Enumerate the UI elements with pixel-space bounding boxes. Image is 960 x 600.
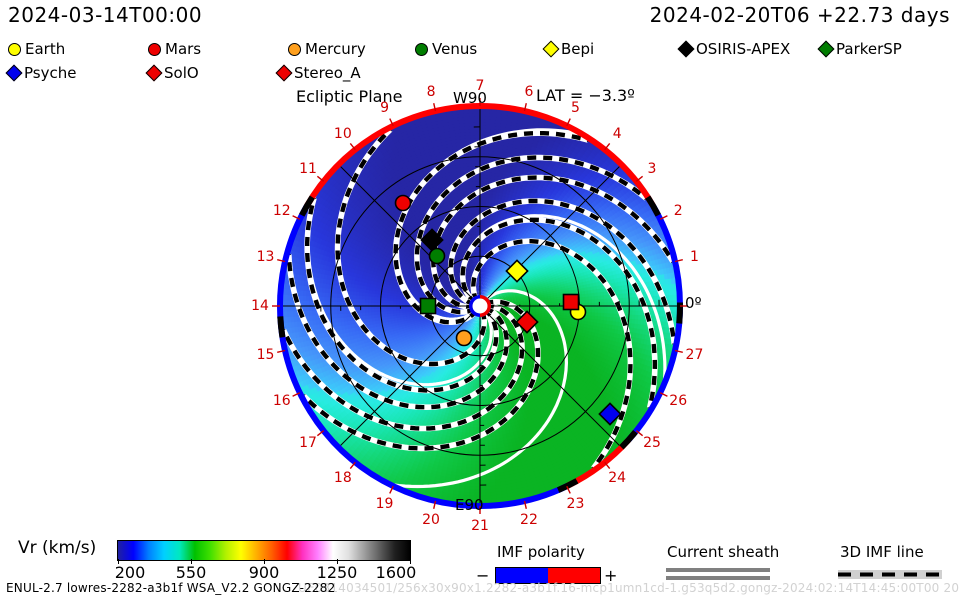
legend-marker-stereo_a: [276, 65, 293, 82]
legend-item-osiris-apex: OSIRIS-APEX: [680, 38, 790, 60]
legend-label-psyche: Psyche: [24, 66, 76, 81]
legend-marker-mars: [148, 43, 161, 56]
legend-marker-solo: [146, 65, 163, 82]
legend-item-psyche: Psyche: [8, 62, 76, 84]
legend-marker-psyche: [6, 65, 23, 82]
right-timestamp: 2024-02-20T06 +22.73 days: [650, 3, 950, 27]
legend-label-stereo_a: Stereo_A: [294, 66, 361, 81]
legend-item-stereo-a: Stereo_A: [278, 62, 361, 84]
polar-disc-wrapper: [280, 106, 680, 506]
legend-item-earth: Earth: [8, 38, 65, 60]
legend-item-solo: SolO: [148, 62, 199, 84]
legend-item-parkersp: ParkerSP: [820, 38, 902, 60]
legend-marker-bepi: [543, 41, 560, 58]
legend-label-earth: Earth: [25, 42, 65, 57]
legend-label-solo: SolO: [164, 66, 199, 81]
left-timestamp: 2024-03-14T00:00: [8, 3, 202, 27]
legend-label-bepi: Bepi: [561, 42, 594, 57]
legend-marker-mercury: [288, 43, 301, 56]
legend-item-venus: Venus: [415, 38, 477, 60]
legend-label-osiris-apex: OSIRIS-APEX: [696, 42, 790, 57]
legend-item-bepi: Bepi: [545, 38, 594, 60]
legend-marker-earth: [8, 43, 21, 56]
legend-label-mercury: Mercury: [305, 42, 366, 57]
legend-marker-venus: [415, 43, 428, 56]
legend-label-mars: Mars: [165, 42, 201, 57]
legend-label-venus: Venus: [432, 42, 477, 57]
legend-marker-parkersp: [818, 41, 835, 58]
legend-label-parkersp: ParkerSP: [836, 42, 902, 57]
legend-item-mercury: Mercury: [288, 38, 366, 60]
legend-row-planets: EarthMarsMercuryVenusBepiOSIRIS-APEXPark…: [0, 38, 960, 60]
ecliptic-plane-plot: Ecliptic Plane LAT = −3.3º 0123456789101…: [248, 88, 712, 528]
legend-marker-osiris-apex: [678, 41, 695, 58]
legend-item-mars: Mars: [148, 38, 201, 60]
